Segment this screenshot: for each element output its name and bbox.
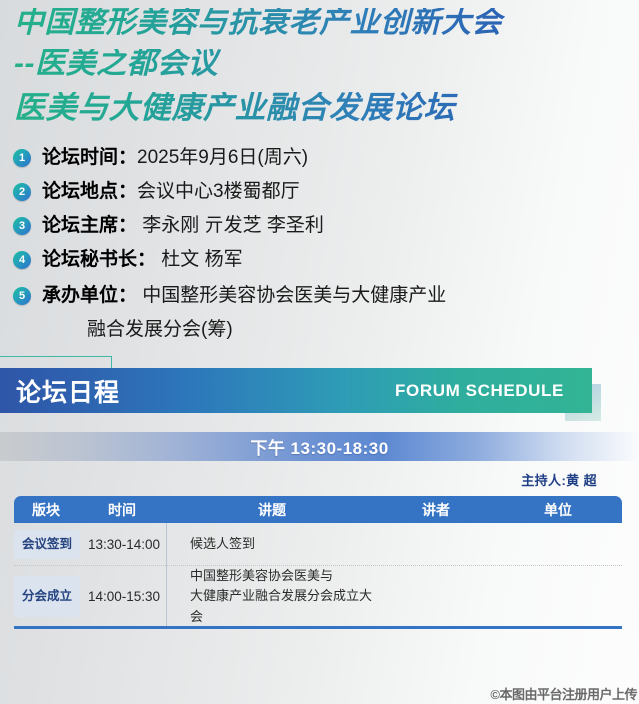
forum-info-list: 1 论坛时间：2025年9月6日(周六) 2 论坛地点：会议中心3楼蜀都厅 3 … [0, 145, 639, 342]
watermark-text: ©本图由平台注册用户上传 [490, 684, 637, 703]
column-header-topic: 讲题 [166, 500, 378, 520]
info-text-chairs: 论坛主席： 李永刚 亓发芝 李圣利 [42, 213, 324, 238]
info-row-chairs: 3 论坛主席： 李永刚 亓发芝 李圣利 [13, 213, 639, 238]
block-badge: 分会成立 [14, 576, 80, 617]
column-header-time: 时间 [78, 500, 166, 520]
schedule-table-footer-rule [14, 626, 622, 629]
forum-schedule-banner: 论坛日程 FORUM SCHEDULE [0, 356, 639, 420]
block-badge: 会议签到 [14, 530, 80, 559]
table-row: 会议签到 13:30-14:00 候选人签到 [14, 523, 622, 566]
info-row-secretary: 4 论坛秘书长： 杜文 杨军 [13, 247, 639, 272]
session-time-bar: 下午 13:30-18:30 [0, 432, 639, 461]
poster-title-line-2: --医美之都会议 [14, 49, 639, 79]
info-text-organizer: 承办单位： 中国整形美容协会医美与大健康产业 [42, 283, 446, 308]
info-value-chairs: 李永刚 亓发芝 李圣利 [137, 215, 324, 236]
info-value-venue: 会议中心3楼蜀都厅 [137, 181, 300, 202]
row-time-cell: 13:30-14:00 [80, 537, 168, 552]
info-text-venue: 论坛地点：会议中心3楼蜀都厅 [42, 179, 300, 204]
row-topic-line-2: 大健康产业融合发展分会成立大会 [190, 586, 378, 626]
row-topic-cell: 中国整形美容协会医美与 大健康产业融合发展分会成立大会 [168, 566, 378, 626]
info-value-organizer-line2: 融合发展分会(筹) [13, 317, 639, 342]
info-text-secretary: 论坛秘书长： 杜文 杨军 [42, 247, 243, 272]
row-time-cell: 14:00-15:30 [80, 589, 168, 604]
info-value-secretary: 杜文 杨军 [156, 249, 243, 270]
info-number-badge-1: 1 [13, 149, 31, 167]
banner-bar: 论坛日程 FORUM SCHEDULE [0, 368, 592, 413]
row-topic-line-1: 候选人签到 [190, 534, 378, 554]
session-time-label: 下午 13:30-18:30 [250, 434, 388, 459]
info-row-organizer: 5 承办单位： 中国整形美容协会医美与大健康产业 [13, 283, 639, 308]
info-label-secretary: 论坛秘书长： [42, 249, 156, 270]
banner-title-en: FORUM SCHEDULE [395, 381, 564, 401]
column-header-speaker: 讲者 [378, 500, 494, 520]
info-row-venue: 2 论坛地点：会议中心3楼蜀都厅 [13, 179, 639, 204]
schedule-table: 版块 时间 讲题 讲者 单位 会议签到 13:30-14:00 候选人签到 分会… [0, 496, 639, 626]
row-block-cell: 分会成立 [14, 566, 80, 626]
info-value-time: 2025年9月6日(周六) [137, 147, 308, 168]
session-host-label: 主持人:黄 超 [0, 470, 639, 489]
column-header-unit: 单位 [494, 500, 622, 520]
banner-title-cn: 论坛日程 [16, 373, 120, 409]
column-header-block: 版块 [14, 500, 78, 520]
info-label-organizer: 承办单位： [42, 285, 137, 306]
info-number-badge-3: 3 [13, 217, 31, 235]
info-number-badge-5: 5 [13, 287, 31, 305]
poster-title-block: 中国整形美容与抗衰老产业创新大会 --医美之都会议 医美与大健康产业融合发展论坛 [0, 0, 639, 123]
table-row: 分会成立 14:00-15:30 中国整形美容协会医美与 大健康产业融合发展分会… [14, 566, 622, 626]
schedule-table-body: 会议签到 13:30-14:00 候选人签到 分会成立 14:00-15:30 … [14, 523, 622, 626]
schedule-table-header-row: 版块 时间 讲题 讲者 单位 [14, 496, 622, 523]
info-label-time: 论坛时间： [42, 147, 137, 168]
row-block-cell: 会议签到 [14, 523, 80, 565]
info-row-time: 1 论坛时间：2025年9月6日(周六) [13, 145, 639, 170]
row-topic-line-1: 中国整形美容协会医美与 [190, 566, 378, 586]
info-label-chairs: 论坛主席： [42, 215, 137, 236]
poster-title-line-3: 医美与大健康产业融合发展论坛 [14, 92, 639, 123]
poster-title-line-1: 中国整形美容与抗衰老产业创新大会 [14, 8, 639, 38]
row-topic-cell: 候选人签到 [168, 534, 378, 554]
info-label-venue: 论坛地点： [42, 181, 137, 202]
info-number-badge-4: 4 [13, 251, 31, 269]
info-text-time: 论坛时间：2025年9月6日(周六) [42, 145, 308, 170]
info-number-badge-2: 2 [13, 183, 31, 201]
info-value-organizer: 中国整形美容协会医美与大健康产业 [137, 285, 446, 306]
